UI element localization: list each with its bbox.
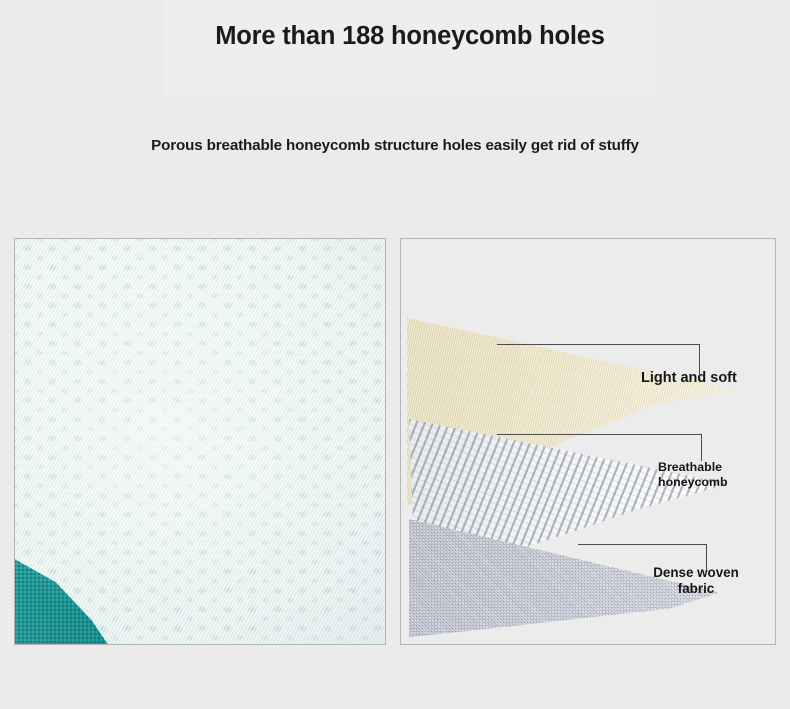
leader-vertical-segment xyxy=(701,434,702,461)
callout-label-light-and-soft: Light and soft xyxy=(641,370,737,388)
callout-label-dense-woven-fabric: Dense woven fabric xyxy=(640,565,752,598)
callout-label-breathable-honeycomb: Breathable honeycomb xyxy=(658,460,728,490)
mesh-vignette-overlay xyxy=(15,239,385,644)
page-subtitle: Porous breathable honeycomb structure ho… xyxy=(0,137,790,154)
honeycomb-mesh-photo-panel xyxy=(14,238,386,645)
leader-horizontal-segment xyxy=(497,344,700,345)
leader-horizontal-segment xyxy=(578,544,707,545)
leader-horizontal-segment xyxy=(497,434,702,435)
page-title: More than 188 honeycomb holes xyxy=(165,20,655,53)
